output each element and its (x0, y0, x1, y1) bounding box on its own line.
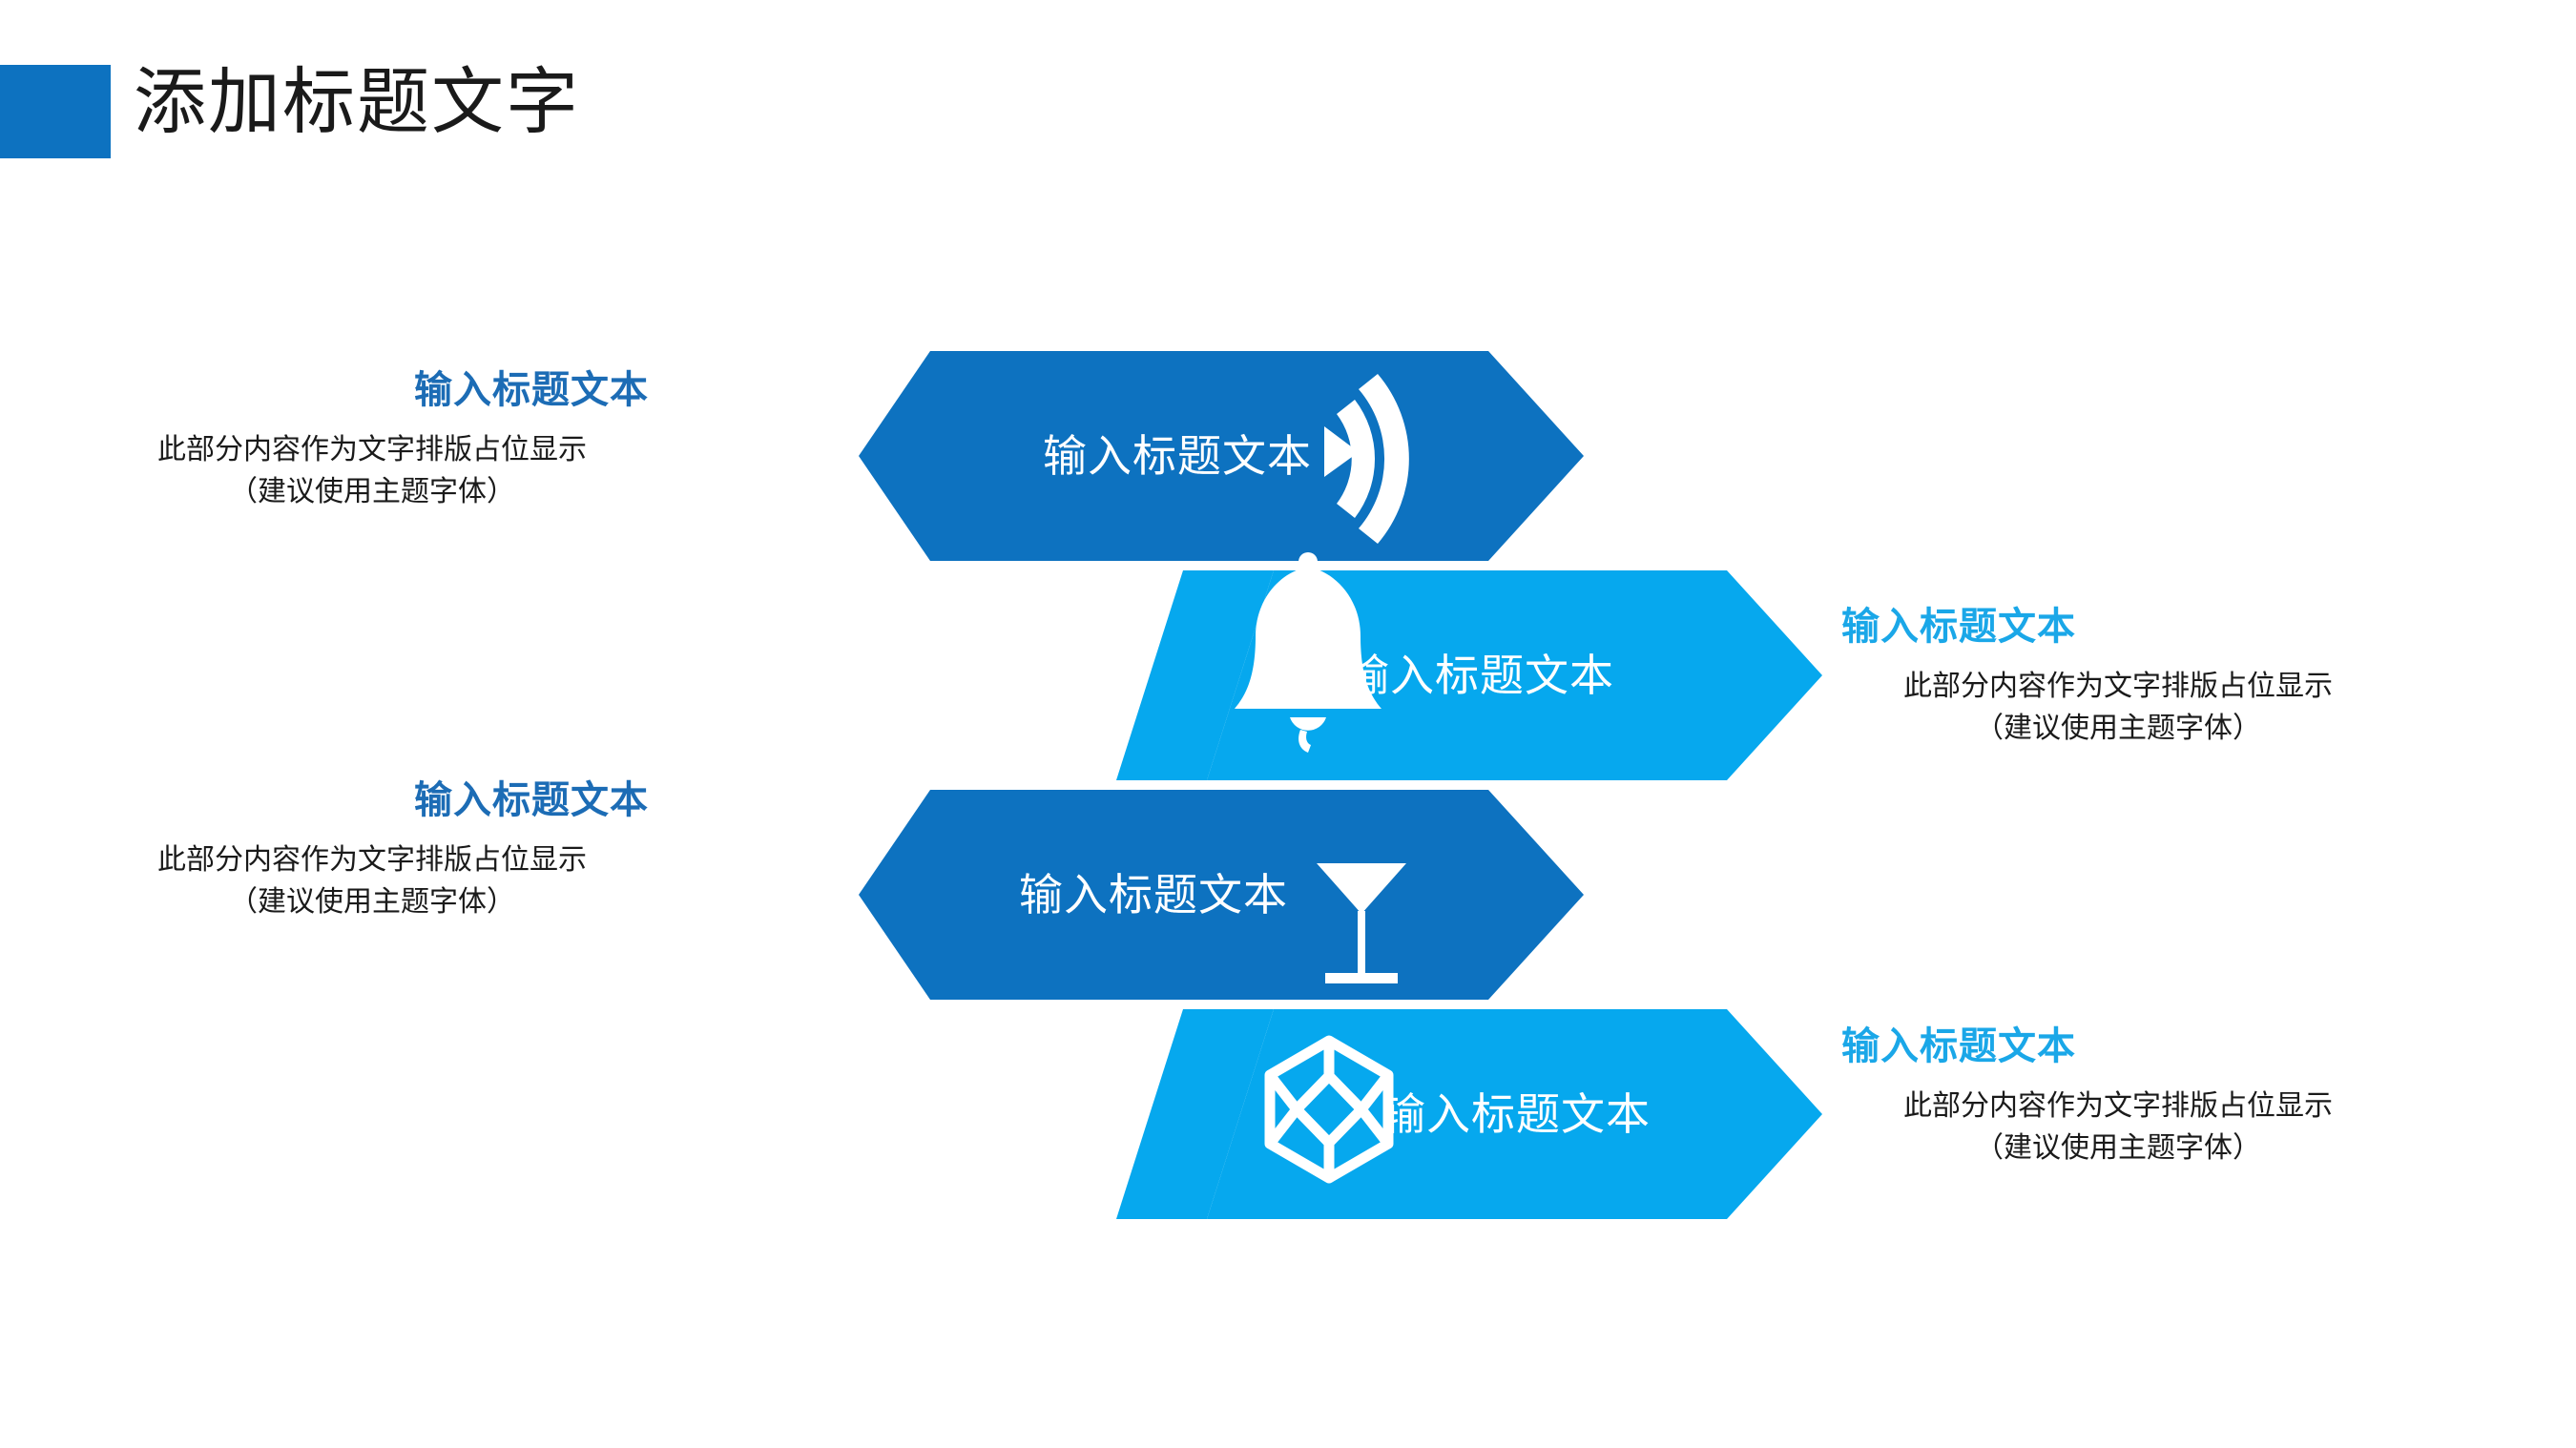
band-4-label: 输入标题文本 (1381, 1089, 1651, 1139)
side-block-3-body-line-1: 此部分内容作为文字排版占位显示 (95, 839, 649, 881)
side-block-1: 输入标题文本 此部分内容作为文字排版占位显示 （建议使用主题字体） (95, 364, 649, 513)
side-block-2-body-line-1: 此部分内容作为文字排版占位显示 (1841, 666, 2395, 708)
side-block-2-heading: 输入标题文本 (1841, 601, 2395, 652)
band-2-label: 输入标题文本 (1345, 651, 1614, 700)
side-block-4: 输入标题文本 此部分内容作为文字排版占位显示 （建议使用主题字体） (1841, 1021, 2395, 1169)
side-block-1-heading: 输入标题文本 (95, 364, 649, 416)
band-1-label: 输入标题文本 (1043, 431, 1312, 481)
side-block-3-heading: 输入标题文本 (95, 775, 649, 826)
side-block-2-body-line-2: （建议使用主题字体） (1841, 708, 2395, 750)
side-block-1-body-line-1: 此部分内容作为文字排版占位显示 (95, 429, 649, 471)
band-3-label: 输入标题文本 (1019, 870, 1288, 920)
side-block-4-heading: 输入标题文本 (1841, 1021, 2395, 1072)
side-block-3: 输入标题文本 此部分内容作为文字排版占位显示 （建议使用主题字体） (95, 775, 649, 923)
side-block-3-body-line-2: （建议使用主题字体） (95, 881, 649, 923)
side-block-4-body-line-2: （建议使用主题字体） (1841, 1127, 2395, 1169)
side-block-2: 输入标题文本 此部分内容作为文字排版占位显示 （建议使用主题字体） (1841, 601, 2395, 750)
side-block-4-body-line-1: 此部分内容作为文字排版占位显示 (1841, 1086, 2395, 1127)
side-block-1-body-line-2: （建议使用主题字体） (95, 471, 649, 513)
